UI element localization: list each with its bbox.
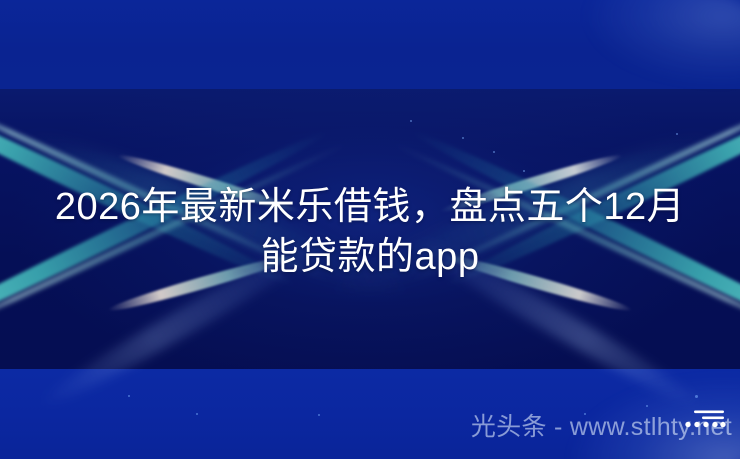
promo-banner: 2026年最新米乐借钱，盘点五个12月 能贷款的app 光头条 - www.st… — [0, 0, 740, 459]
watermark: 光头条 - www.stlhty.net — [471, 411, 732, 443]
background-band-top — [0, 0, 740, 89]
banner-headline: 2026年最新米乐借钱，盘点五个12月 能贷款的app — [0, 182, 740, 282]
watermark-text: 光头条 - www.stlhty.net — [471, 411, 732, 443]
